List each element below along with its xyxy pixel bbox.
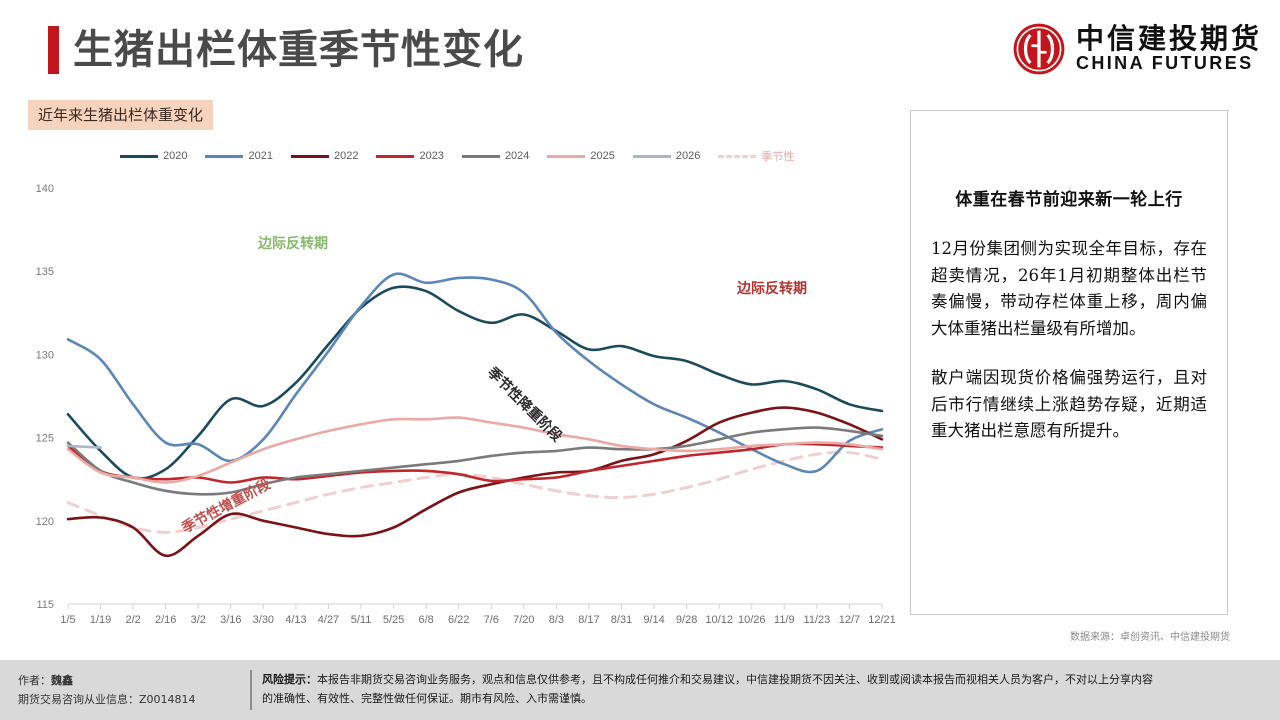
legend-swatch-2026 — [633, 155, 671, 158]
slide-root: 生猪出栏体重季节性变化 近年来生猪出栏体重变化 中信建投期货 CHINA FUT… — [0, 0, 1280, 720]
legend-item-2021[interactable]: 2021 — [205, 150, 272, 162]
chart-subtitle: 近年来生猪出栏体重变化 — [28, 100, 213, 130]
x-axis-tick-12/21: 12/21 — [868, 614, 896, 626]
annotation-seasonal-weight-gain: 季节性增重阶段 — [178, 476, 273, 537]
legend-label-2020: 2020 — [163, 150, 187, 162]
line-chart: 1151201251301351401/51/192/22/163/23/163… — [0, 170, 900, 660]
footer-license-number: Z0014814 — [139, 693, 196, 706]
footer-author-label: 作者： — [18, 674, 51, 687]
series-line-2021[interactable] — [68, 274, 882, 472]
series-line-2024[interactable] — [68, 428, 882, 495]
legend-swatch-2025 — [547, 155, 585, 158]
x-axis-tick-6/8: 6/8 — [419, 614, 434, 626]
x-axis-tick-3/2: 3/2 — [191, 614, 206, 626]
legend-item-2025[interactable]: 2025 — [547, 150, 614, 162]
commentary-paragraph-1: 12月份集团侧为实现全年目标，存在超卖情况，26年1月初期整体出栏节奏偏慢，带动… — [931, 236, 1207, 343]
y-axis-tick-140: 140 — [36, 183, 54, 195]
legend-swatch-季节性 — [718, 155, 756, 158]
series-line-2020[interactable] — [68, 287, 882, 479]
x-axis-tick-10/26: 10/26 — [738, 614, 766, 626]
page-title: 生猪出栏体重季节性变化 — [48, 26, 524, 74]
annotation-marginal-reversal-left: 边际反转期 — [257, 235, 328, 252]
legend-label-2021: 2021 — [248, 150, 272, 162]
title-accent-bar — [48, 26, 59, 74]
chart-container: 2020202120222023202420252026季节性 11512012… — [0, 140, 900, 660]
y-axis-tick-130: 130 — [36, 349, 54, 361]
legend-item-2022[interactable]: 2022 — [291, 150, 358, 162]
y-axis-tick-120: 120 — [36, 516, 54, 528]
x-axis-tick-11/23: 11/23 — [804, 614, 831, 626]
series-line-2025[interactable] — [68, 418, 882, 483]
footer-risk-line-1: 风险提示：本报告非期货交易咨询业务服务，观点和信息仅供参考，且不构成任何推介和交… — [262, 670, 1272, 689]
x-axis-tick-8/31: 8/31 — [611, 614, 632, 626]
footer-bar: 作者：魏鑫 期货交易咨询从业信息：Z0014814 风险提示：本报告非期货交易咨… — [0, 660, 1280, 720]
x-axis-tick-7/20: 7/20 — [513, 614, 534, 626]
footer-risk-line-2: 的准确性、有效性、完整性做任何保证。期市有风险、入市需谨慎。 — [262, 689, 1272, 708]
legend-label-2026: 2026 — [676, 150, 700, 162]
commentary-paragraph-2: 散户端因现货价格偏强势运行，且对后市行情继续上涨趋势存疑，近期适重大猪出栏意愿有… — [931, 365, 1207, 445]
footer-author-block: 作者：魏鑫 期货交易咨询从业信息：Z0014814 — [18, 672, 196, 709]
footer-risk-label: 风险提示： — [262, 673, 317, 686]
logo-chinese-name: 中信建投期货 — [1076, 24, 1262, 53]
legend-swatch-2023 — [376, 155, 414, 158]
citic-emblem-icon — [1012, 22, 1066, 76]
x-axis-tick-5/11: 5/11 — [351, 614, 372, 626]
y-axis-tick-135: 135 — [36, 266, 54, 278]
series-line-2023[interactable] — [68, 444, 882, 483]
footer-risk-block: 风险提示：本报告非期货交易咨询业务服务，观点和信息仅供参考，且不构成任何推介和交… — [262, 670, 1272, 709]
x-axis-tick-4/27: 4/27 — [318, 614, 339, 626]
x-axis-tick-1/5: 1/5 — [60, 614, 75, 626]
x-axis-tick-4/13: 4/13 — [285, 614, 306, 626]
legend-item-2026[interactable]: 2026 — [633, 150, 700, 162]
legend-label-季节性: 季节性 — [761, 148, 794, 164]
commentary-heading: 体重在春节前迎来新一轮上行 — [931, 185, 1207, 210]
legend-swatch-2024 — [462, 155, 500, 158]
legend-swatch-2021 — [205, 155, 243, 158]
annotation-marginal-reversal-right: 边际反转期 — [736, 280, 807, 297]
x-axis-tick-2/16: 2/16 — [155, 614, 176, 626]
chart-legend: 2020202120222023202420252026季节性 — [120, 148, 794, 164]
page-title-text: 生猪出栏体重季节性变化 — [73, 30, 524, 70]
y-axis-tick-125: 125 — [36, 433, 54, 445]
x-axis-tick-2/2: 2/2 — [125, 614, 140, 626]
brand-logo: 中信建投期货 CHINA FUTURES — [1012, 22, 1262, 76]
annotation-seasonal-weight-decline: 季节性降重阶段 — [483, 363, 565, 445]
commentary-panel: 体重在春节前迎来新一轮上行 12月份集团侧为实现全年目标，存在超卖情况，26年1… — [910, 110, 1228, 615]
x-axis-tick-3/30: 3/30 — [253, 614, 274, 626]
legend-swatch-2020 — [120, 155, 158, 158]
legend-label-2023: 2023 — [419, 150, 443, 162]
y-axis-tick-115: 115 — [36, 599, 54, 611]
legend-label-2022: 2022 — [334, 150, 358, 162]
legend-item-2024[interactable]: 2024 — [462, 150, 529, 162]
x-axis-tick-6/22: 6/22 — [448, 614, 469, 626]
footer-risk-text-2: 的准确性、有效性、完整性做任何保证。期市有风险、入市需谨慎。 — [262, 692, 592, 705]
data-source-note: 数据来源：卓创资讯、中信建投期货 — [1020, 628, 1230, 643]
footer-license-label: 期货交易咨询从业信息： — [18, 693, 139, 706]
x-axis-tick-5/25: 5/25 — [383, 614, 404, 626]
x-axis-tick-1/19: 1/19 — [90, 614, 111, 626]
x-axis-tick-11/9: 11/9 — [774, 614, 795, 626]
legend-item-2020[interactable]: 2020 — [120, 150, 187, 162]
logo-english-name: CHINA FUTURES — [1076, 53, 1262, 75]
x-axis-tick-3/16: 3/16 — [220, 614, 241, 626]
x-axis-tick-10/12: 10/12 — [705, 614, 733, 626]
footer-divider — [250, 670, 252, 710]
x-axis-tick-8/3: 8/3 — [549, 614, 564, 626]
footer-author-line: 作者：魏鑫 — [18, 672, 196, 691]
series-line-2026[interactable] — [68, 446, 101, 448]
x-axis-tick-9/28: 9/28 — [676, 614, 697, 626]
x-axis-tick-12/7: 12/7 — [839, 614, 860, 626]
footer-author-name: 魏鑫 — [51, 674, 73, 687]
legend-item-季节性[interactable]: 季节性 — [718, 148, 794, 164]
legend-label-2024: 2024 — [505, 150, 529, 162]
x-axis-tick-7/6: 7/6 — [484, 614, 499, 626]
legend-label-2025: 2025 — [590, 150, 614, 162]
x-axis-tick-9/14: 9/14 — [643, 614, 664, 626]
footer-risk-text-1: 本报告非期货交易咨询业务服务，观点和信息仅供参考，且不构成任何推介和交易建议，中… — [317, 673, 1153, 686]
x-axis-tick-8/17: 8/17 — [578, 614, 599, 626]
chart-plot-area: 1151201251301351401/51/192/22/163/23/163… — [0, 170, 900, 660]
legend-swatch-2022 — [291, 155, 329, 158]
legend-item-2023[interactable]: 2023 — [376, 150, 443, 162]
footer-license-line: 期货交易咨询从业信息：Z0014814 — [18, 691, 196, 710]
